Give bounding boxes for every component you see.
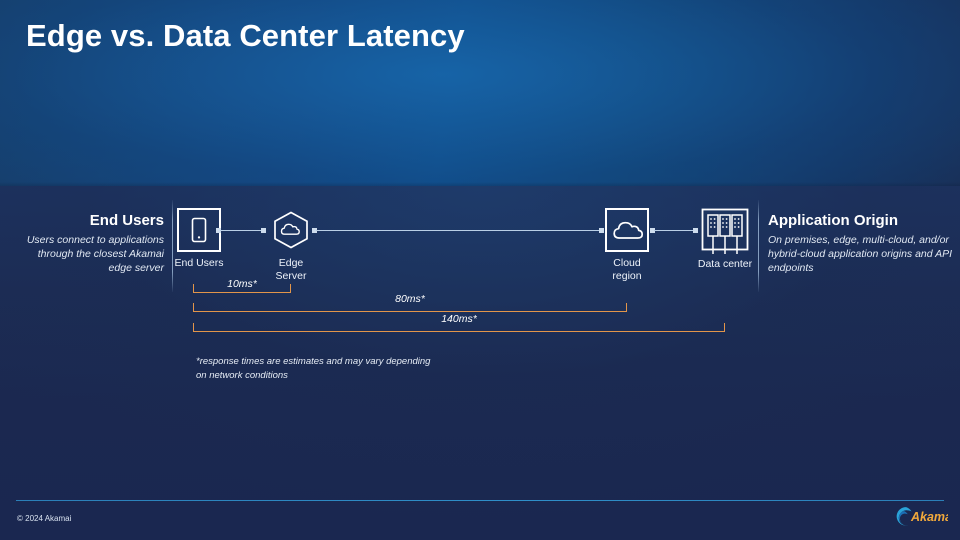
right-caption-block: Application Origin On premises, edge, mu… [768,212,954,276]
right-caption-description: On premises, edge, multi-cloud, and/or h… [768,234,954,276]
left-caption-description: Users connect to applications through th… [12,234,164,276]
connector-dot-right [693,228,698,233]
cloud-icon [610,217,644,243]
cloud-region-label-line2: region [612,270,641,282]
node-cloud-region: Cloud region [596,208,658,283]
bracket-label-80ms: 80ms* [193,293,627,305]
data-center-icon-wrap [690,208,760,256]
left-caption-block: End Users Users connect to applications … [12,212,164,276]
connector-edgeserver-cloudregion [312,226,604,235]
footer-divider [16,500,944,501]
node-label-data-center: Data center [690,258,760,271]
akamai-wave-mark [897,507,912,525]
bracket-label-10ms: 10ms* [193,278,291,290]
node-label-cloud-region: Cloud region [596,257,658,283]
connector-line [654,230,694,231]
cloud-region-icon-frame [605,208,649,252]
copyright-text: © 2024 Akamai [17,514,71,523]
end-users-icon-frame [177,208,221,252]
akamai-logo-icon: Akamai [892,505,948,527]
bracket-label-140ms: 140ms* [193,313,725,325]
mobile-phone-icon [187,215,211,245]
slide-canvas: Edge vs. Data Center Latency End Users U… [0,0,960,540]
hexagon-cloud-icon [269,209,313,251]
slide-title: Edge vs. Data Center Latency [26,18,465,54]
connector-dot-right [261,228,266,233]
node-edge-server: Edge Server [260,208,322,283]
edge-server-icon-wrap [267,208,315,252]
connector-dot-right [599,228,604,233]
node-data-center: Data center [690,208,760,271]
connector-cloudregion-datacenter [650,226,698,235]
server-rack-icon [694,208,756,256]
connector-endusers-edgeserver [216,226,266,235]
connector-line [220,230,262,231]
cloud-region-label-line1: Cloud [613,257,640,269]
node-label-end-users: End Users [168,257,230,270]
left-caption-heading: End Users [12,212,164,229]
node-end-users: End Users [168,208,230,270]
connector-line [316,230,600,231]
akamai-logo: Akamai [892,505,948,527]
right-caption-heading: Application Origin [768,212,954,229]
edge-server-label-line1: Edge [279,257,304,269]
footnote-text: *response times are estimates and may va… [196,355,436,383]
akamai-logo-wordmark: Akamai [910,510,948,524]
